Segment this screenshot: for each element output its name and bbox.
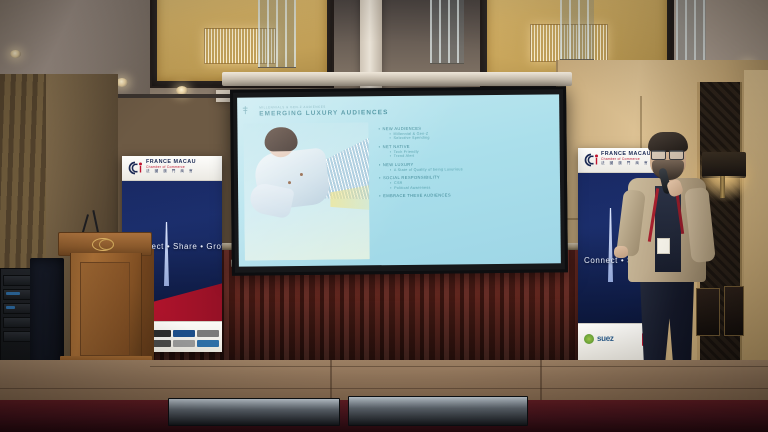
ceiling-scroll-band [676, 0, 706, 62]
glasses-lens [651, 150, 666, 160]
bullet-level1: •EMBRACE THESE AUDIENCES [379, 192, 554, 199]
sponsor-logo [197, 330, 219, 337]
name-badge-icon [657, 238, 670, 254]
banner-org-cn: 法 國 澳 門 商 會 [601, 161, 651, 166]
ceiling-scroll-band [258, 0, 296, 68]
rack-indicator [6, 306, 15, 309]
podium-front-panel [80, 262, 130, 356]
slide-bullet-list: •NEW AUDIENCES •Millennial & Gen-Z •Sele… [368, 120, 560, 259]
suez-mark-icon [584, 334, 594, 344]
cci-logo-icon [584, 153, 599, 167]
wall-sconce-icon [702, 152, 746, 178]
wall-plaque [696, 288, 720, 336]
recessed-downlight-icon [10, 50, 21, 58]
projection-screen: MILLENNIALS & GEN-Z AUDIENCES EMERGING L… [230, 86, 568, 276]
figure-hair [264, 127, 297, 151]
presenter-hand-left [614, 246, 628, 258]
brand-mark-icon [241, 106, 249, 115]
wall-column-right [744, 70, 768, 390]
ceiling-scroll-band [560, 0, 594, 60]
sponsor-logo [197, 340, 219, 347]
pa-speaker-icon [30, 258, 64, 370]
banner-header-left: FRANCE MACAU Chamber of Commerce 法 國 澳 門… [122, 156, 222, 181]
conference-stage-photo: FRANCE MACAU Chamber of Commerce 法 國 澳 門… [0, 0, 768, 432]
sponsor-logo [173, 330, 195, 337]
sconce-arm [720, 176, 725, 198]
ceiling-scroll-band [430, 0, 464, 64]
cci-logo-icon [128, 161, 143, 175]
wall-plaque [724, 286, 744, 336]
eyeglasses-icon [651, 150, 685, 158]
banner-org-cn: 法 國 澳 門 商 會 [146, 169, 196, 174]
stage-seam [150, 366, 768, 367]
stage-seam [0, 388, 768, 389]
screen-roller [222, 72, 572, 86]
stage-monitor-icon [168, 398, 340, 426]
sponsor-name: suez [597, 334, 614, 343]
figure-accent-dot [288, 181, 291, 184]
projected-slide: MILLENNIALS & GEN-Z AUDIENCES EMERGING L… [237, 94, 561, 266]
hotel-crest-icon [99, 239, 114, 250]
slide-figure-image [243, 122, 369, 260]
banner-header-right: FRANCE MACAU Chamber of Commerce 法 國 澳 門… [578, 148, 660, 173]
stage-monitor-icon [348, 396, 528, 426]
glasses-lens [669, 150, 684, 160]
sponsor-logo [173, 340, 195, 347]
presenter-hair [648, 132, 688, 152]
rack-indicator [6, 292, 20, 295]
figure-accent-dot [300, 173, 303, 176]
